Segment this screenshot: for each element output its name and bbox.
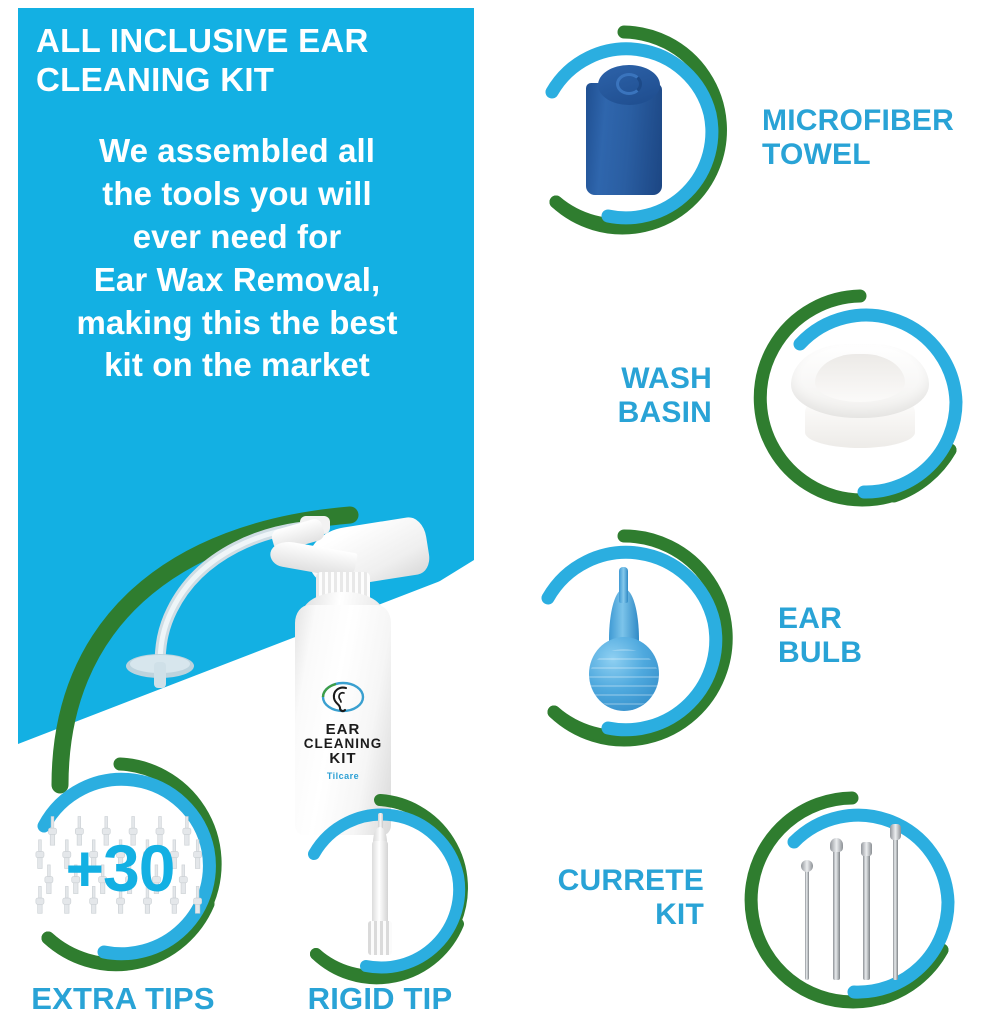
body-line-6: kit on the market: [22, 344, 452, 387]
badge-product-image: [536, 550, 712, 726]
badge-microfiber-towel[interactable]: [512, 18, 736, 242]
label-microfiber-towel: MICROFIBER TOWEL: [762, 104, 992, 171]
label-line-2: KIT: [498, 898, 704, 932]
spray-bottle-assembly: EAR CLEANING KIT Tilcare: [250, 480, 450, 840]
towel-icon: [580, 65, 668, 195]
basin-icon: [785, 338, 935, 458]
bulb-icon: [579, 563, 669, 713]
rigid-tip-icon: [360, 813, 400, 963]
label-ear-bulb: EAR BULB: [778, 602, 984, 669]
label-wash-basin: WASH BASIN: [500, 362, 712, 429]
badge-currete-kit[interactable]: [736, 784, 968, 1016]
badge-wash-basin[interactable]: [744, 282, 976, 514]
badge-ear-bulb[interactable]: [508, 522, 740, 754]
label-line-2: TOWEL: [762, 138, 992, 172]
label-line-1: CURRETE: [498, 864, 704, 898]
body-line-5: making this the best: [22, 302, 452, 345]
bottle-label-line-1: EAR: [302, 722, 384, 737]
bottle-label-line-3: KIT: [302, 751, 384, 766]
badge-product-image: [306, 814, 455, 963]
page-headline: ALL INCLUSIVE EAR CLEANING KIT: [36, 22, 436, 100]
label-line-1: RIGID TIP: [268, 982, 492, 1017]
label-line-2: BASIN: [500, 396, 712, 430]
label-line-1: EAR: [778, 602, 984, 636]
body-line-4: Ear Wax Removal,: [22, 259, 452, 302]
label-line-1: EXTRA TIPS: [4, 982, 242, 1017]
badge-extra-tips[interactable]: +30: [8, 752, 232, 976]
infographic-canvas: ALL INCLUSIVE EAR CLEANING KIT We assemb…: [0, 0, 996, 1024]
label-line-1: WASH: [500, 362, 712, 396]
bottle-label: EAR CLEANING KIT Tilcare: [302, 680, 384, 784]
label-line-1: MICROFIBER: [762, 104, 992, 138]
bottle-label-line-2: CLEANING: [302, 737, 384, 751]
headline-line-2: CLEANING KIT: [36, 61, 274, 98]
badge-rigid-tip[interactable]: [282, 790, 478, 986]
body-line-3: ever need for: [22, 216, 452, 259]
label-line-2: BULB: [778, 636, 984, 670]
curette-icon: [787, 820, 917, 980]
body-line-1: We assembled all: [22, 130, 452, 173]
label-currete-kit: CURRETE KIT: [498, 864, 704, 931]
badge-product-image: [772, 310, 948, 486]
label-rigid-tip: RIGID TIP: [268, 982, 492, 1017]
intro-body-text: We assembled all the tools you will ever…: [22, 130, 452, 387]
label-extra-tips: EXTRA TIPS: [4, 982, 242, 1017]
badge-product-image: [764, 812, 940, 988]
body-line-2: the tools you will: [22, 173, 452, 216]
ear-icon: [320, 680, 366, 714]
badge-product-image: [539, 45, 709, 215]
headline-line-1: ALL INCLUSIVE EAR: [36, 22, 369, 59]
bottle-brand: Tilcare: [327, 771, 359, 781]
tips-count-overlay: +30: [8, 830, 232, 906]
